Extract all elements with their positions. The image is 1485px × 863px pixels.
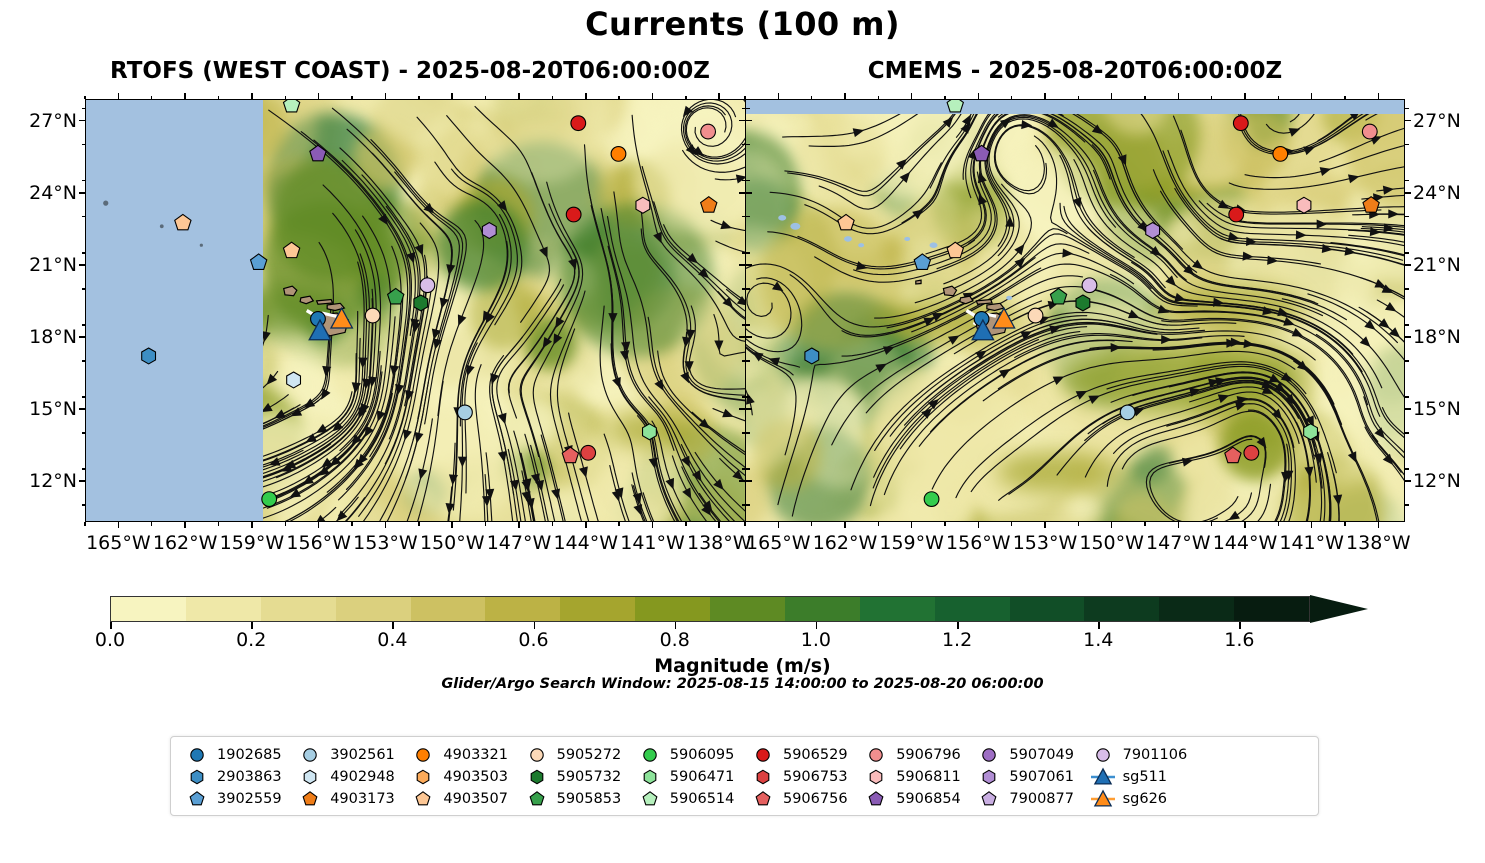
observation-markers[interactable] — [746, 100, 1404, 521]
legend-marker-icon — [976, 789, 1002, 809]
lat-tick — [1405, 192, 1411, 194]
legend-item-sg511[interactable]: sg511 — [1086, 767, 1199, 787]
lon-tick — [251, 93, 253, 99]
lat-minor-tick — [82, 396, 86, 397]
legend-item-2903863[interactable]: 2903863 — [180, 767, 293, 787]
lat-tick-label-right: 12°N — [1413, 470, 1461, 492]
marker-5906796[interactable] — [1362, 124, 1377, 139]
lon-minor-tick — [218, 96, 219, 100]
lon-tick-label: 144°W — [1213, 532, 1278, 554]
map-canvas-cmems — [746, 100, 1404, 521]
legend-marker-icon — [524, 745, 550, 765]
lat-minor-tick — [746, 288, 750, 289]
lon-tick — [318, 93, 320, 99]
lat-tick — [1405, 264, 1411, 266]
marker-5906529[interactable] — [571, 116, 586, 131]
lon-tick — [1044, 522, 1046, 528]
lat-minor-tick — [82, 144, 86, 145]
lon-tick — [585, 522, 587, 528]
lat-tick — [746, 120, 752, 122]
legend-item-4903173[interactable]: 4903173 — [293, 789, 406, 809]
lat-tick — [1405, 336, 1411, 338]
marker-2903863[interactable] — [142, 348, 156, 364]
lon-minor-tick — [1011, 522, 1012, 526]
legend-label: sg511 — [1123, 769, 1167, 785]
lon-tick-label: 165°W — [86, 532, 151, 554]
marker-5906514[interactable] — [947, 99, 963, 112]
lat-minor-tick — [746, 180, 750, 181]
lat-tick-label-right: 21°N — [1413, 254, 1461, 276]
legend-label: 5906095 — [670, 747, 735, 763]
legend-item-5907049[interactable]: 5907049 — [972, 745, 1085, 765]
legend-marker-icon — [297, 767, 323, 787]
legend-label: 5906756 — [783, 791, 848, 807]
legend-item-7900877[interactable]: 7900877 — [972, 789, 1085, 809]
lat-tick — [746, 192, 752, 194]
marker-3902559[interactable] — [914, 254, 930, 269]
lon-tick — [1244, 522, 1246, 528]
lat-minor-tick — [742, 396, 746, 397]
lat-minor-tick — [742, 468, 746, 469]
lat-tick — [739, 480, 745, 482]
legend-item-1902685[interactable]: 1902685 — [180, 745, 293, 765]
legend-marker-icon — [297, 789, 323, 809]
legend-marker-icon — [1090, 767, 1116, 787]
legend-marker-icon — [1090, 745, 1116, 765]
marker-3902561[interactable] — [1120, 405, 1135, 420]
lon-tick — [385, 522, 387, 528]
legend-item-4903503[interactable]: 4903503 — [406, 767, 519, 787]
lon-tick — [118, 93, 120, 99]
lon-minor-tick — [811, 96, 812, 100]
lon-tick — [318, 522, 320, 528]
lat-minor-tick — [1405, 288, 1409, 289]
lon-minor-tick — [418, 522, 419, 526]
figure-title: Currents (100 m) — [0, 5, 1485, 43]
lon-tick — [844, 93, 846, 99]
legend-label: 4902948 — [330, 769, 395, 785]
legend-item-5907061[interactable]: 5907061 — [972, 767, 1085, 787]
lon-tick — [718, 522, 720, 528]
lat-minor-tick — [1405, 216, 1409, 217]
colorbar-tick-label: 0.6 — [518, 629, 548, 651]
lat-minor-tick — [82, 324, 86, 325]
colorbar-tick-label: 1.6 — [1224, 629, 1254, 651]
lon-minor-tick — [1211, 522, 1212, 526]
colorbar-segment-7 — [635, 597, 710, 621]
lon-tick-label: 144°W — [553, 532, 618, 554]
legend-item-5906811[interactable]: 5906811 — [859, 767, 972, 787]
marker-4903173[interactable] — [1363, 197, 1379, 212]
lat-tick — [79, 192, 85, 194]
lat-minor-tick — [82, 360, 86, 361]
colorbar[interactable]: 0.00.20.40.60.81.01.21.41.6 — [110, 596, 1365, 622]
lat-minor-tick — [746, 252, 750, 253]
lon-tick-label: 153°W — [353, 532, 418, 554]
colorbar-tick — [675, 622, 677, 629]
legend-label: 4903503 — [443, 769, 508, 785]
marker-4903507[interactable] — [175, 214, 191, 229]
colorbar-tick-label: 0.8 — [660, 629, 690, 651]
lat-tick-label-left: 18°N — [0, 326, 77, 348]
lat-tick — [739, 336, 745, 338]
colorbar-segment-15 — [1234, 597, 1309, 621]
lat-tick — [739, 120, 745, 122]
colorbar-tick-label: 0.4 — [377, 629, 407, 651]
lon-tick-label: 147°W — [1146, 532, 1211, 554]
lat-tick — [79, 336, 85, 338]
marker-5906471[interactable] — [1304, 424, 1318, 440]
lon-tick — [1378, 93, 1380, 99]
marker-4903507b[interactable] — [947, 242, 963, 257]
legend-label: 4903321 — [443, 747, 508, 763]
marker-5906514[interactable] — [283, 99, 299, 112]
legend-marker-icon — [184, 789, 210, 809]
legend-item-7901106[interactable]: 7901106 — [1086, 745, 1199, 765]
marker-5906753[interactable] — [1244, 445, 1259, 460]
lat-minor-tick — [1405, 144, 1409, 145]
colorbar-segment-3 — [336, 597, 411, 621]
legend-marker-icon — [637, 745, 663, 765]
marker-5905732[interactable] — [1076, 295, 1090, 311]
legend-label: 7901106 — [1123, 747, 1188, 763]
lon-tick — [844, 522, 846, 528]
lon-tick — [718, 93, 720, 99]
legend-label: 4903507 — [443, 791, 508, 807]
colorbar-tick — [957, 622, 959, 629]
lat-tick — [746, 480, 752, 482]
marker-5906854[interactable] — [310, 145, 326, 160]
lon-minor-tick — [618, 96, 619, 100]
marker-7901106[interactable] — [420, 278, 435, 293]
colorbar-segment-14 — [1159, 597, 1234, 621]
colorbar-segment-12 — [1010, 597, 1085, 621]
colorbar-segment-10 — [860, 597, 935, 621]
legend-label: 5907061 — [1009, 769, 1074, 785]
lon-tick — [118, 522, 120, 528]
legend-item-3902559[interactable]: 3902559 — [180, 789, 293, 809]
marker-5905853[interactable] — [1050, 288, 1066, 303]
lat-minor-tick — [82, 432, 86, 433]
marker-5906811[interactable] — [1297, 197, 1311, 213]
legend-marker-icon — [976, 745, 1002, 765]
colorbar-tick-label: 1.4 — [1083, 629, 1113, 651]
lat-minor-tick — [82, 504, 86, 505]
marker-3902561[interactable] — [458, 405, 473, 420]
lon-minor-tick — [685, 96, 686, 100]
lon-minor-tick — [1278, 96, 1279, 100]
lon-minor-tick — [285, 522, 286, 526]
lon-tick — [778, 522, 780, 528]
legend-item-5906854[interactable]: 5906854 — [859, 789, 972, 809]
legend-marker-icon — [524, 789, 550, 809]
lat-minor-tick — [1405, 324, 1409, 325]
legend-label: 5907049 — [1009, 747, 1074, 763]
lon-tick-label: 156°W — [286, 532, 351, 554]
colorbar-segment-2 — [261, 597, 336, 621]
lat-minor-tick — [742, 180, 746, 181]
lon-tick-label: 165°W — [746, 532, 811, 554]
legend-marker-icon — [410, 745, 436, 765]
lon-minor-tick — [944, 96, 945, 100]
lon-minor-tick — [1144, 522, 1145, 526]
lat-minor-tick — [82, 288, 86, 289]
lon-minor-tick — [218, 522, 219, 526]
legend-box[interactable]: 1902685290386339025593902561490294849031… — [170, 736, 1319, 816]
colorbar-segment-8 — [710, 597, 785, 621]
lat-minor-tick — [742, 252, 746, 253]
legend-item-4903507[interactable]: 4903507 — [406, 789, 519, 809]
lat-tick-label-left: 27°N — [0, 110, 77, 132]
lon-tick — [978, 522, 980, 528]
lat-minor-tick — [746, 432, 750, 433]
lon-minor-tick — [485, 96, 486, 100]
lon-tick — [1311, 93, 1313, 99]
lat-minor-tick — [82, 468, 86, 469]
lon-tick-label: 138°W — [687, 532, 752, 554]
lat-tick-label-left: 12°N — [0, 470, 77, 492]
legend-item-5906529[interactable]: 5906529 — [746, 745, 859, 765]
lat-minor-tick — [742, 432, 746, 433]
lat-minor-tick — [746, 144, 750, 145]
lon-tick — [385, 93, 387, 99]
colorbar-segment-4 — [411, 597, 486, 621]
lon-minor-tick — [744, 522, 745, 526]
marker-5906529b[interactable] — [1229, 207, 1244, 222]
legend-label: 1902685 — [217, 747, 282, 763]
legend-item-5906796[interactable]: 5906796 — [859, 745, 972, 765]
lon-minor-tick — [285, 96, 286, 100]
lat-minor-tick — [746, 504, 750, 505]
colorbar-tick-label: 0.2 — [236, 629, 266, 651]
lat-minor-tick — [742, 216, 746, 217]
lat-minor-tick — [746, 360, 750, 361]
legend-label: 5906753 — [783, 769, 848, 785]
legend-marker-icon — [750, 745, 776, 765]
legend-label: 7900877 — [1009, 791, 1074, 807]
colorbar-tick — [251, 622, 253, 629]
lon-tick-label: 141°W — [620, 532, 685, 554]
colorbar-tick — [110, 622, 112, 629]
lat-minor-tick — [742, 324, 746, 325]
marker-5906796[interactable] — [701, 124, 716, 139]
lat-minor-tick — [82, 108, 86, 109]
panel-title-right: CMEMS - 2025-08-20T06:00:00Z — [745, 58, 1405, 84]
lon-minor-tick — [1144, 96, 1145, 100]
lon-minor-tick — [811, 522, 812, 526]
colorbar-tick — [1098, 622, 1100, 629]
lat-minor-tick — [82, 252, 86, 253]
lon-tick — [518, 522, 520, 528]
marker-4903507b[interactable] — [283, 242, 299, 257]
lat-tick — [79, 480, 85, 482]
lon-minor-tick — [1278, 522, 1279, 526]
lon-tick — [1044, 93, 1046, 99]
marker-5906811[interactable] — [636, 197, 650, 213]
lon-minor-tick — [1078, 96, 1079, 100]
marker-5906854[interactable] — [973, 145, 989, 160]
lon-tick-label: 147°W — [487, 532, 552, 554]
lon-tick-label: 150°W — [420, 532, 485, 554]
colorbar-segment-0 — [111, 597, 186, 621]
lon-minor-tick — [878, 522, 879, 526]
lon-tick — [451, 522, 453, 528]
legend-label: 5906471 — [670, 769, 735, 785]
marker-5905853[interactable] — [388, 288, 404, 303]
marker-5907061[interactable] — [1146, 223, 1160, 239]
marker-5906529b[interactable] — [566, 207, 581, 222]
marker-sg626[interactable] — [331, 308, 352, 328]
marker-sg626[interactable] — [993, 308, 1014, 328]
marker-7901106[interactable] — [1082, 278, 1097, 293]
marker-5905272[interactable] — [1028, 308, 1043, 323]
marker-5905732[interactable] — [414, 295, 428, 311]
observation-markers[interactable] — [86, 100, 745, 521]
lon-tick — [778, 93, 780, 99]
marker-5906756[interactable] — [1225, 447, 1241, 462]
lon-tick — [652, 522, 654, 528]
legend-item-5905853[interactable]: 5905853 — [520, 789, 633, 809]
lat-tick-label-left: 24°N — [0, 182, 77, 204]
legend-label: 4903173 — [330, 791, 395, 807]
lat-minor-tick — [742, 504, 746, 505]
lat-minor-tick — [1405, 180, 1409, 181]
lat-tick — [746, 408, 752, 410]
legend-item-3902561[interactable]: 3902561 — [293, 745, 406, 765]
lon-tick — [1378, 522, 1380, 528]
marker-4903507[interactable] — [838, 214, 854, 229]
lat-tick — [739, 408, 745, 410]
marker-5906095[interactable] — [924, 492, 939, 507]
legend-label: 5906529 — [783, 747, 848, 763]
lon-minor-tick — [618, 522, 619, 526]
colorbar-tick-label: 0.0 — [95, 629, 125, 651]
lon-tick — [184, 93, 186, 99]
lon-tick — [652, 93, 654, 99]
marker-4903321[interactable] — [611, 147, 626, 162]
colorbar-tick-label: 1.2 — [942, 629, 972, 651]
lon-tick-label: 159°W — [879, 532, 944, 554]
lat-tick — [746, 336, 752, 338]
colorbar-tick — [534, 622, 536, 629]
legend-item-5905272[interactable]: 5905272 — [520, 745, 633, 765]
legend-item-5906756[interactable]: 5906756 — [746, 789, 859, 809]
lat-tick — [79, 120, 85, 122]
legend-item-5906095[interactable]: 5906095 — [633, 745, 746, 765]
lat-tick — [79, 264, 85, 266]
legend-marker-icon — [184, 767, 210, 787]
lat-minor-tick — [746, 396, 750, 397]
marker-4902948[interactable] — [287, 372, 301, 388]
lon-tick — [1244, 93, 1246, 99]
lat-minor-tick — [1405, 432, 1409, 433]
lon-minor-tick — [84, 522, 85, 526]
legend-marker-icon — [297, 745, 323, 765]
lat-minor-tick — [1405, 360, 1409, 361]
marker-4903173[interactable] — [701, 197, 717, 212]
legend-label: 5905272 — [557, 747, 622, 763]
legend-item-5906753[interactable]: 5906753 — [746, 767, 859, 787]
legend-item-5906471[interactable]: 5906471 — [633, 767, 746, 787]
legend-marker-icon — [184, 745, 210, 765]
legend-marker-icon — [410, 767, 436, 787]
lat-minor-tick — [1405, 108, 1409, 109]
lon-tick — [1178, 522, 1180, 528]
marker-5906753[interactable] — [581, 445, 596, 460]
map-panel-rtofs[interactable] — [85, 99, 746, 522]
legend-item-4902948[interactable]: 4902948 — [293, 767, 406, 787]
marker-5906471[interactable] — [643, 424, 657, 440]
lat-minor-tick — [1405, 252, 1409, 253]
lon-minor-tick — [418, 96, 419, 100]
legend-label: 5906811 — [896, 769, 961, 785]
lat-tick-label-right: 24°N — [1413, 182, 1461, 204]
lon-minor-tick — [744, 96, 745, 100]
lat-minor-tick — [82, 216, 86, 217]
lon-minor-tick — [351, 96, 352, 100]
marker-5907061[interactable] — [482, 223, 496, 239]
map-panel-cmems[interactable] — [745, 99, 1405, 522]
legend-marker-icon — [524, 767, 550, 787]
lon-tick — [1111, 522, 1113, 528]
colorbar-tick — [392, 622, 394, 629]
marker-5905272[interactable] — [365, 308, 380, 323]
lon-tick — [1311, 522, 1313, 528]
marker-5906756[interactable] — [562, 447, 578, 462]
lon-tick — [518, 93, 520, 99]
marker-4903321[interactable] — [1273, 147, 1288, 162]
lon-minor-tick — [351, 522, 352, 526]
lon-tick-label: 138°W — [1346, 532, 1411, 554]
lat-tick — [1405, 480, 1411, 482]
legend-marker-icon — [637, 767, 663, 787]
legend-item-5905732[interactable]: 5905732 — [520, 767, 633, 787]
lon-tick-label: 141°W — [1279, 532, 1344, 554]
marker-3902559[interactable] — [251, 254, 267, 269]
legend-marker-icon — [750, 767, 776, 787]
lon-minor-tick — [878, 96, 879, 100]
lon-tick — [451, 93, 453, 99]
lon-minor-tick — [1211, 96, 1212, 100]
colorbar-label: Magnitude (m/s) — [0, 655, 1485, 677]
legend-label: 3902561 — [330, 747, 395, 763]
marker-5906529[interactable] — [1233, 116, 1248, 131]
colorbar-segment-11 — [935, 597, 1010, 621]
lat-tick — [739, 192, 745, 194]
lon-tick — [978, 93, 980, 99]
lat-minor-tick — [746, 468, 750, 469]
legend-marker-icon — [976, 767, 1002, 787]
legend-item-sg626[interactable]: sg626 — [1086, 789, 1199, 809]
lat-tick — [1405, 120, 1411, 122]
legend-item-4903321[interactable]: 4903321 — [406, 745, 519, 765]
lat-minor-tick — [742, 360, 746, 361]
colorbar-segment-5 — [485, 597, 560, 621]
legend-label: 2903863 — [217, 769, 282, 785]
lat-tick-label-right: 15°N — [1413, 398, 1461, 420]
colorbar-tick — [816, 622, 818, 629]
lat-minor-tick — [742, 288, 746, 289]
search-window-caption: Glider/Argo Search Window: 2025-08-15 14… — [0, 676, 1485, 692]
lat-tick — [79, 408, 85, 410]
lat-minor-tick — [82, 180, 86, 181]
colorbar-extend-arrow — [1310, 595, 1368, 623]
legend-item-5906514[interactable]: 5906514 — [633, 789, 746, 809]
marker-2903863[interactable] — [805, 348, 819, 364]
legend-label: 5905853 — [557, 791, 622, 807]
legend-label: 5906514 — [670, 791, 735, 807]
marker-5906095[interactable] — [262, 492, 277, 507]
